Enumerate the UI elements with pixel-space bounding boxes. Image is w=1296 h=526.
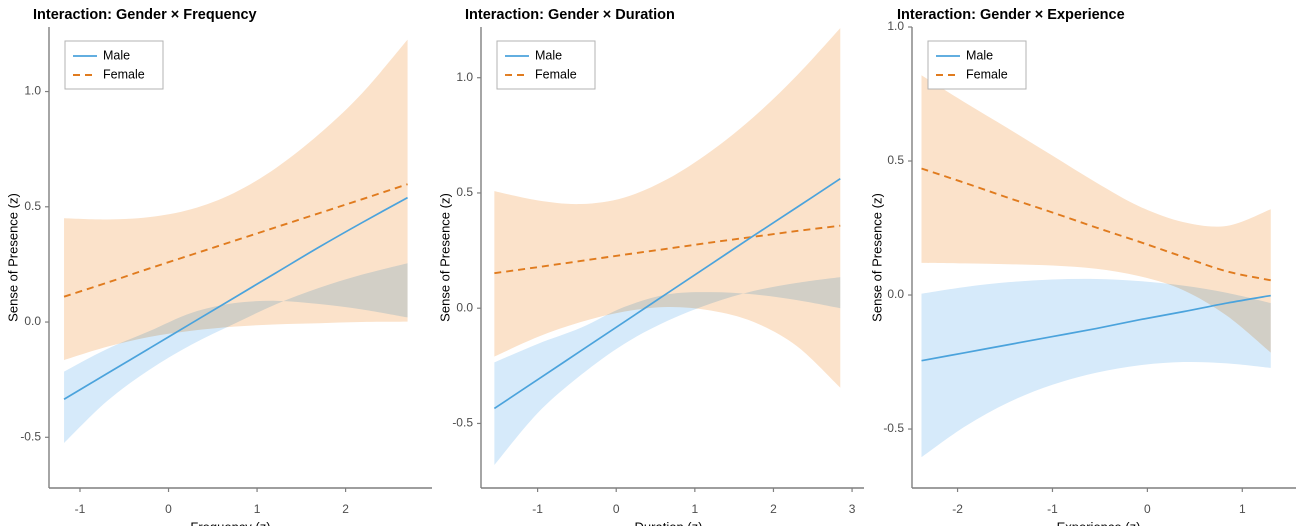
x-tick: 1 — [691, 488, 698, 516]
panel-duration: Interaction: Gender × Duration-0.50.00.5… — [432, 0, 864, 526]
legend-label-male: Male — [535, 48, 562, 62]
y-tick-label: 0.0 — [456, 300, 473, 314]
interaction-plots-figure: Interaction: Gender × Frequency-0.50.00.… — [0, 0, 1296, 526]
x-axis-title: Frequency (z) — [190, 520, 270, 526]
y-tick-label: 0.5 — [24, 199, 41, 213]
y-tick: -0.5 — [883, 421, 912, 435]
y-axis-title: Sense of Presence (z) — [869, 193, 884, 322]
x-tick: -1 — [1047, 488, 1058, 516]
legend-label-male: Male — [966, 48, 993, 62]
x-tick: 2 — [342, 488, 349, 516]
panel-title: Interaction: Gender × Frequency — [33, 7, 257, 23]
x-tick-label: 2 — [342, 502, 349, 516]
x-axis-title: Experience (z) — [1057, 520, 1141, 526]
y-tick-label: -0.5 — [452, 416, 473, 430]
plot-area — [494, 28, 840, 465]
y-tick-label: -0.5 — [883, 421, 904, 435]
y-tick: 0.0 — [456, 300, 481, 314]
y-tick-label: -0.5 — [20, 429, 41, 443]
panel-frequency: Interaction: Gender × Frequency-0.50.00.… — [0, 0, 432, 526]
y-tick-label: 0.0 — [887, 287, 904, 301]
x-tick-label: 3 — [849, 502, 856, 516]
y-tick: 1.0 — [24, 84, 49, 98]
x-tick: 1 — [254, 488, 261, 516]
y-tick: 0.5 — [456, 185, 481, 199]
y-tick-label: 1.0 — [887, 19, 904, 33]
x-tick-label: 0 — [165, 502, 172, 516]
legend: MaleFemale — [497, 41, 595, 89]
x-tick: 3 — [849, 488, 856, 516]
x-tick-label: 1 — [1239, 502, 1246, 516]
legend-label-male: Male — [103, 48, 130, 62]
x-tick-label: -2 — [952, 502, 963, 516]
x-tick-label: 1 — [254, 502, 261, 516]
y-tick-label: 1.0 — [456, 70, 473, 84]
plot-area — [64, 40, 408, 443]
x-tick-label: 1 — [691, 502, 698, 516]
x-tick-label: 0 — [613, 502, 620, 516]
x-tick: 2 — [770, 488, 777, 516]
y-tick-label: 0.5 — [456, 185, 473, 199]
legend: MaleFemale — [928, 41, 1026, 89]
x-tick-label: -1 — [532, 502, 543, 516]
y-tick: 0.0 — [887, 287, 912, 301]
legend-label-female: Female — [966, 67, 1008, 81]
legend-label-female: Female — [103, 67, 145, 81]
x-tick: -1 — [75, 488, 86, 516]
x-tick-label: 0 — [1144, 502, 1151, 516]
chart-canvas: Interaction: Gender × Experience-0.50.00… — [864, 0, 1296, 526]
x-tick-label: 2 — [770, 502, 777, 516]
x-tick: 0 — [1144, 488, 1151, 516]
x-tick: 0 — [165, 488, 172, 516]
x-tick-label: -1 — [75, 502, 86, 516]
panel-experience: Interaction: Gender × Experience-0.50.00… — [864, 0, 1296, 526]
legend-label-female: Female — [535, 67, 577, 81]
y-tick: -0.5 — [20, 429, 49, 443]
panel-title: Interaction: Gender × Duration — [465, 7, 675, 23]
x-tick: -1 — [532, 488, 543, 516]
y-tick-label: 0.5 — [887, 153, 904, 167]
y-tick: 0.0 — [24, 314, 49, 328]
y-tick: 0.5 — [887, 153, 912, 167]
y-axis-title: Sense of Presence (z) — [437, 193, 452, 322]
x-tick: -2 — [952, 488, 963, 516]
x-axis-title: Duration (z) — [635, 520, 703, 526]
chart-canvas: Interaction: Gender × Duration-0.50.00.5… — [432, 0, 864, 526]
legend: MaleFemale — [65, 41, 163, 89]
y-tick: 1.0 — [456, 70, 481, 84]
x-tick-label: -1 — [1047, 502, 1058, 516]
y-tick: -0.5 — [452, 416, 481, 430]
y-axis-title: Sense of Presence (z) — [5, 193, 20, 322]
plot-area — [921, 75, 1270, 457]
y-tick-label: 1.0 — [24, 84, 41, 98]
x-tick: 1 — [1239, 488, 1246, 516]
panel-title: Interaction: Gender × Experience — [897, 7, 1125, 23]
y-tick: 0.5 — [24, 199, 49, 213]
chart-canvas: Interaction: Gender × Frequency-0.50.00.… — [0, 0, 432, 526]
y-tick-label: 0.0 — [24, 314, 41, 328]
x-tick: 0 — [613, 488, 620, 516]
